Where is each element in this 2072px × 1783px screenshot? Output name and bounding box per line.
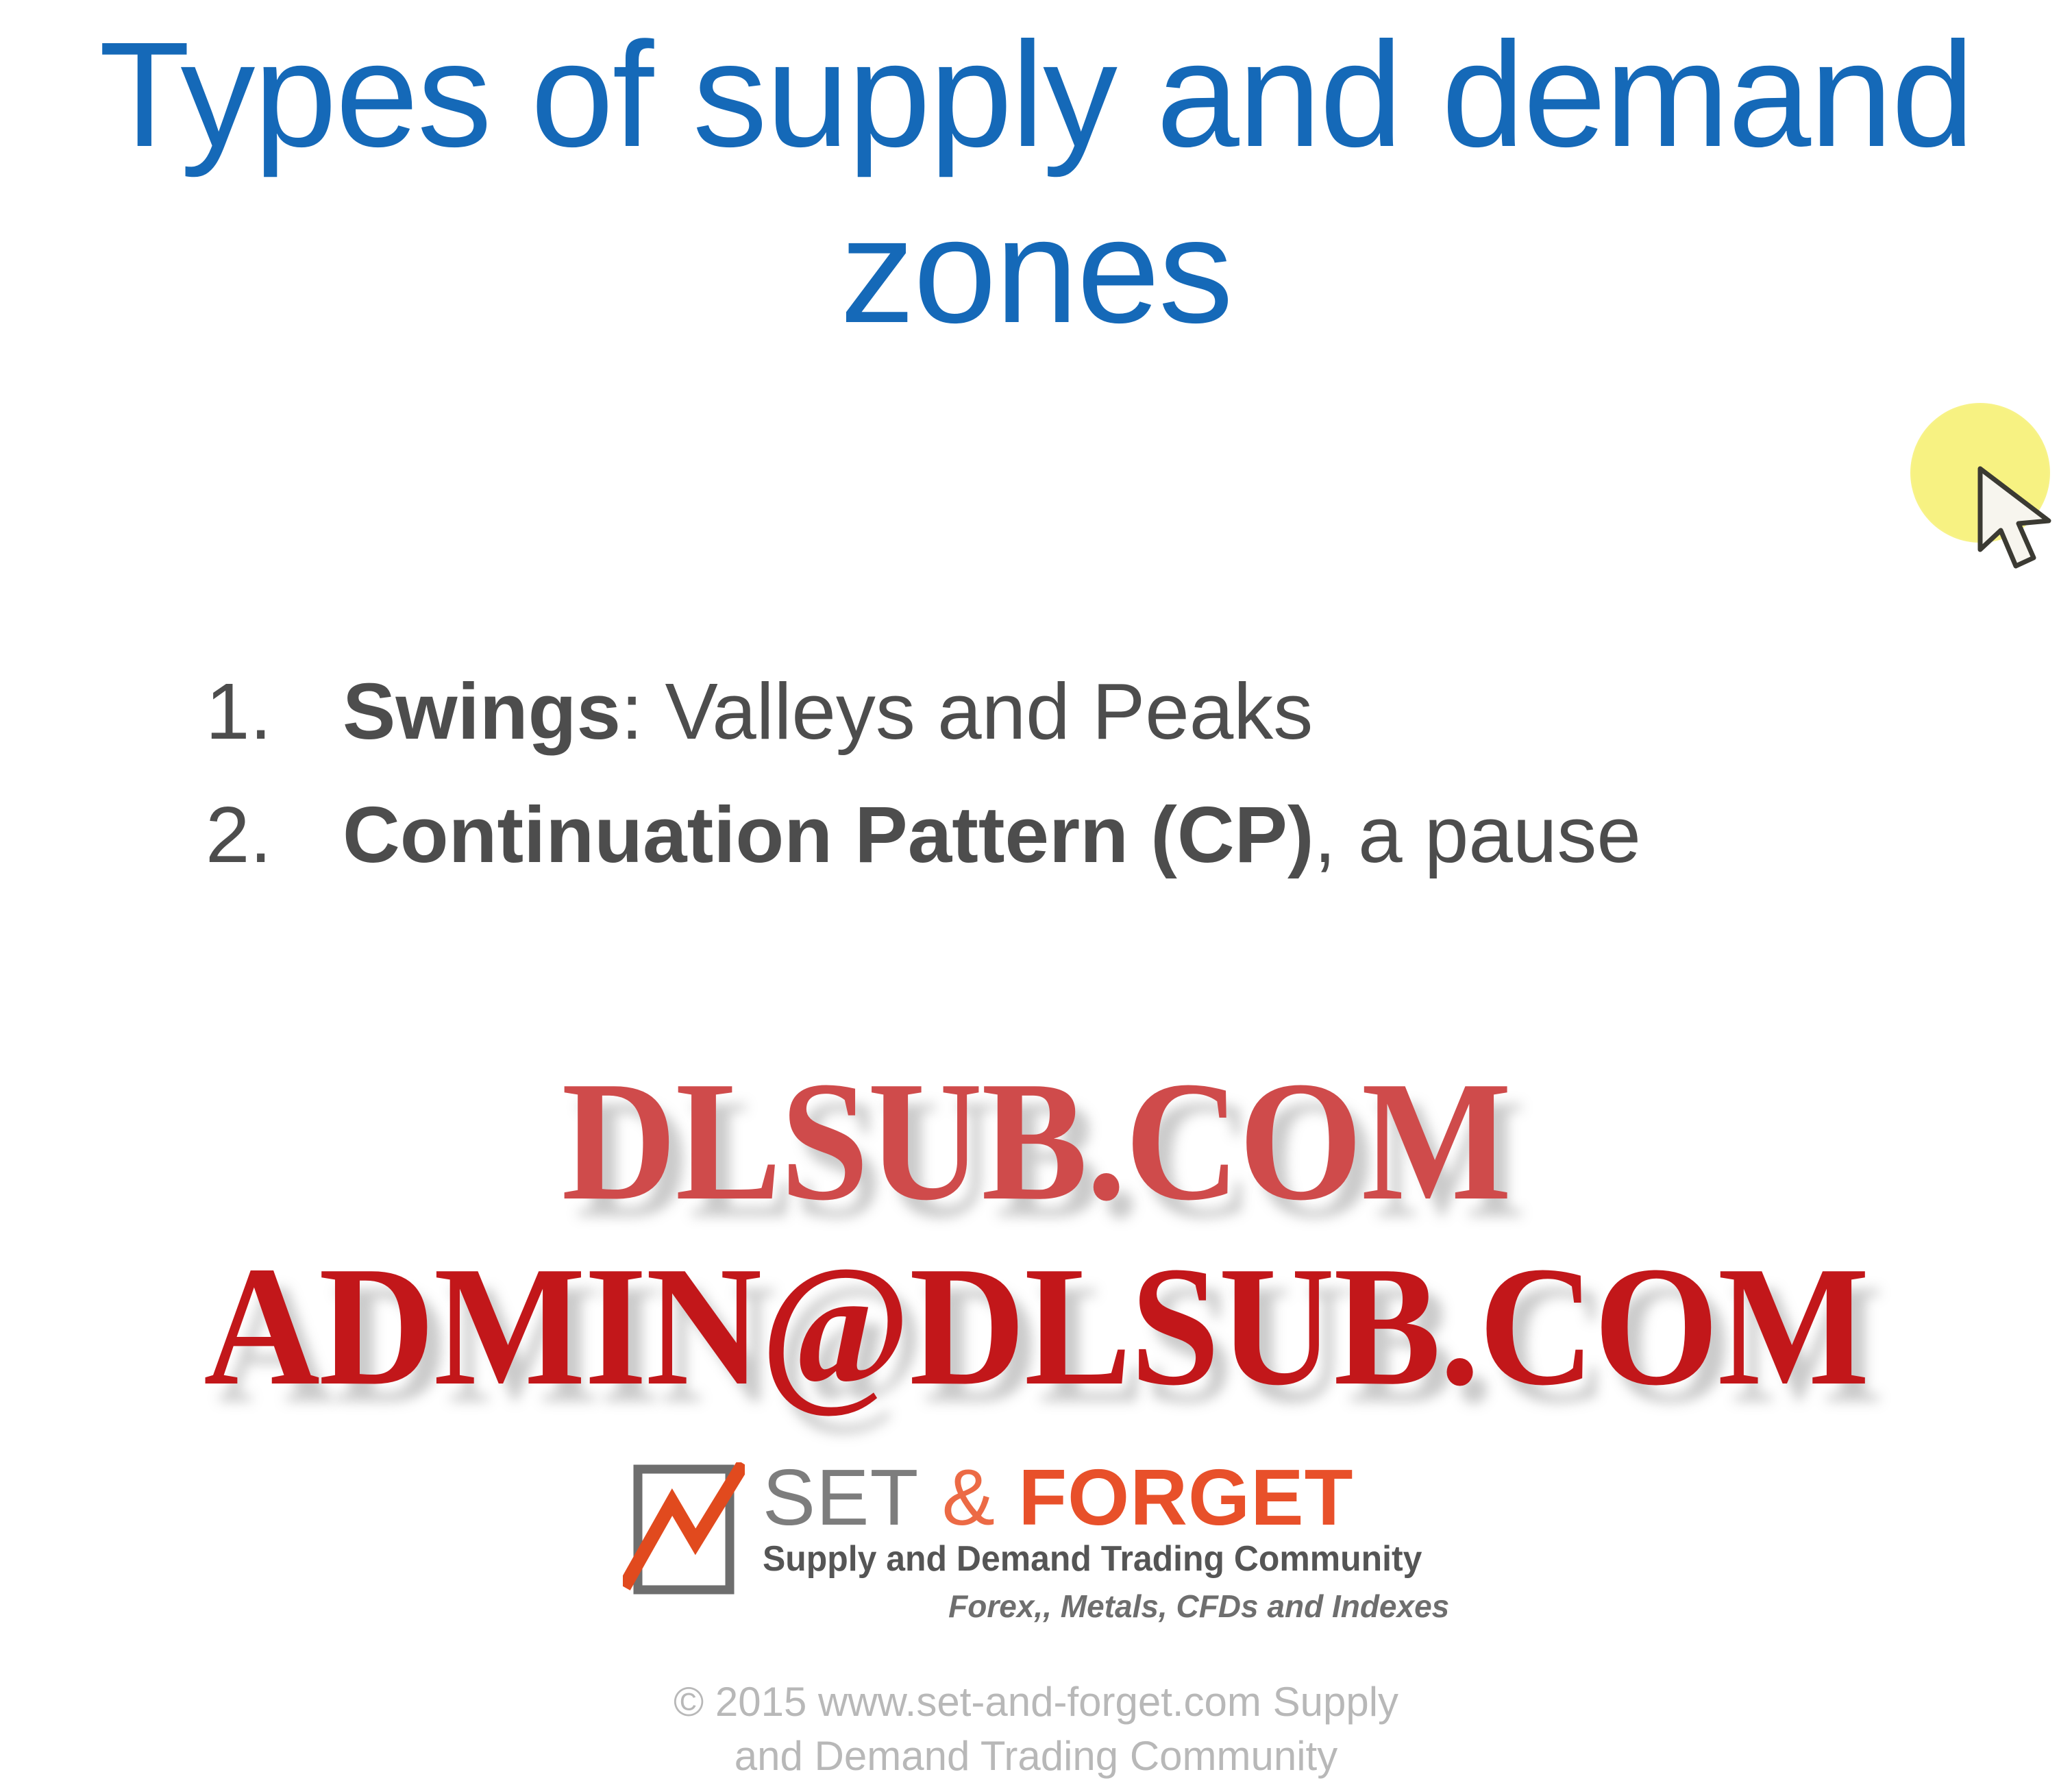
list-item-number: 1. <box>206 672 343 751</box>
page-title: Types of supply and demand zones <box>0 7 2072 359</box>
list-item-rest: : Valleys and Peaks <box>621 667 1313 756</box>
brand-tagline: Supply and Demand Trading Community <box>763 1540 1422 1579</box>
brand-wordmark: SET & FORGET <box>763 1460 1450 1536</box>
brand-word-forget: FORGET <box>1018 1453 1353 1542</box>
list-item-text: Continuation Pattern (CP), a pause <box>343 795 2056 874</box>
brand-word-ampersand: & <box>942 1453 996 1542</box>
list-item-lead: Swings <box>343 667 621 756</box>
chart-line-up-in-box-icon <box>623 1462 745 1599</box>
list-item: 2. Continuation Pattern (CP), a pause <box>206 795 2056 874</box>
list-item: 1. Swings: Valleys and Peaks <box>206 672 2056 751</box>
list-item-number: 2. <box>206 795 343 874</box>
numbered-list: 1. Swings: Valleys and Peaks 2. Continua… <box>206 672 2056 918</box>
list-item-text: Swings: Valleys and Peaks <box>343 672 2056 751</box>
watermark-site-url: DLSUB.COM <box>73 1043 1999 1240</box>
brand-logo: SET & FORGET Supply and Demand Trading C… <box>0 1460 2072 1625</box>
list-item-lead: Continuation Pattern (CP) <box>343 790 1314 879</box>
watermark-email-address: ADMIN@DLSUB.COM <box>62 1228 2010 1425</box>
brand-subtagline: Forex,, Metals, CFDs and Indexes <box>763 1588 1450 1625</box>
brand-logo-inner: SET & FORGET Supply and Demand Trading C… <box>623 1460 1450 1625</box>
footer-copyright-text: © 2015 www.set-and-forget.com Supply and… <box>0 1675 2072 1783</box>
brand-word-set: SET <box>763 1453 920 1542</box>
mouse-arrow-pointer-icon[interactable] <box>1975 466 2064 569</box>
list-item-rest: , a pause <box>1314 790 1641 879</box>
brand-logo-text: SET & FORGET Supply and Demand Trading C… <box>763 1460 1450 1625</box>
